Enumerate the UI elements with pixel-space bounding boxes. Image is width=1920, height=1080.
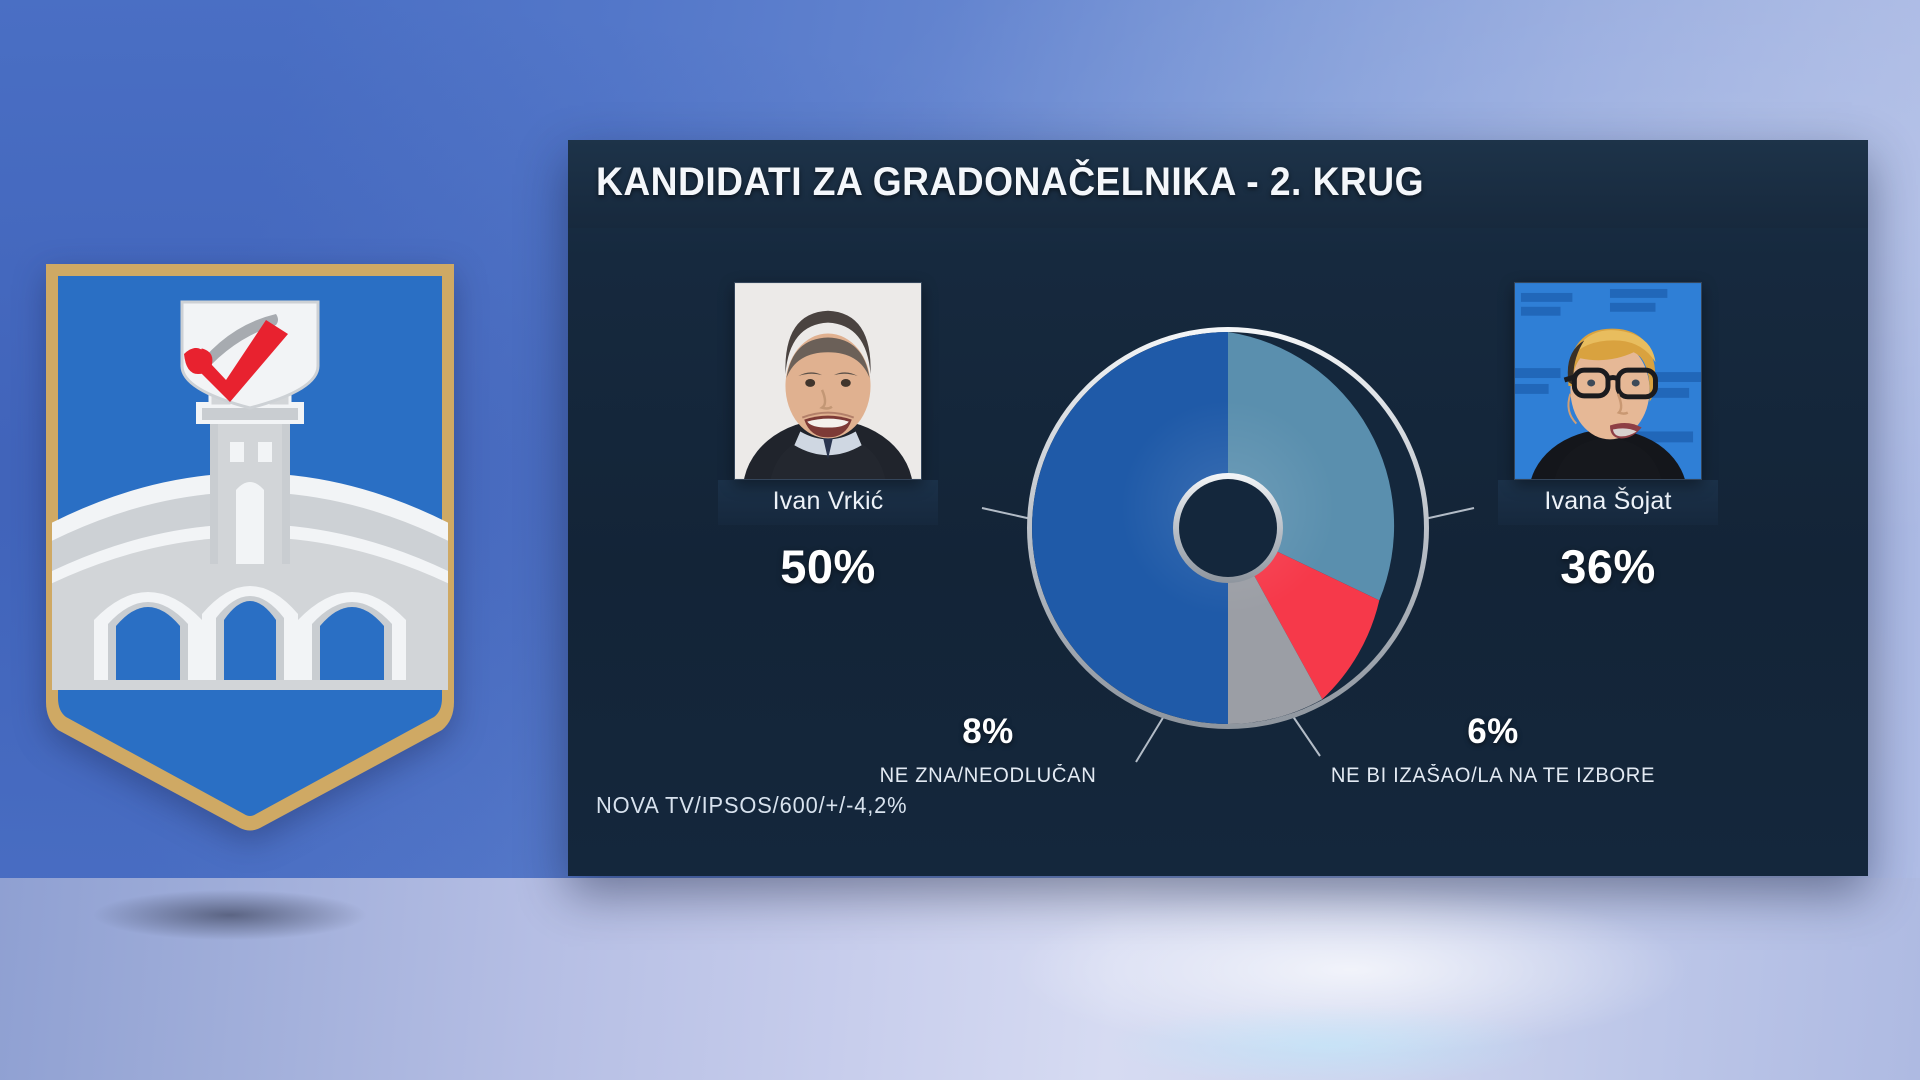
- candidate-photo-right: [1514, 282, 1702, 480]
- candidate-name-right: Ivana Šojat: [1498, 480, 1718, 525]
- callout-label-ne-zna: NE ZNA/NEODLUČAN: [786, 764, 1189, 788]
- poll-result-card: KANDIDATI ZA GRADONAČELNIKA - 2. KRUG: [568, 140, 1868, 876]
- callout-ne-zna: 8% NE ZNA/NEODLUČAN: [778, 712, 1198, 788]
- crest-inner-shield: [182, 302, 318, 408]
- callout-ne-bi-izasao: 6% NE BI IZAŠAO/LA NA TE IZBORE: [1258, 712, 1728, 788]
- candidate-photo-left: [734, 282, 922, 480]
- broadcast-stage: KANDIDATI ZA GRADONAČELNIKA - 2. KRUG: [0, 0, 1920, 1080]
- page-title: KANDIDATI ZA GRADONAČELNIKA - 2. KRUG: [596, 160, 1424, 205]
- donut-hub: [1179, 479, 1277, 577]
- candidate-percent-right: 36%: [1488, 539, 1728, 594]
- callout-percent-ne-zna: 8%: [778, 712, 1198, 752]
- callout-percent-ne-bi-izasao: 6%: [1258, 712, 1728, 752]
- poll-source-line: NOVA TV/IPSOS/600/+/-4,2%: [596, 792, 907, 819]
- poll-donut-chart: [968, 280, 1488, 780]
- candidate-name-left: Ivan Vrkić: [718, 480, 938, 525]
- osijek-coat-of-arms: [44, 262, 456, 832]
- crest-bridge-arches: [94, 586, 406, 682]
- candidate-block-left: Ivan Vrkić 50%: [708, 282, 948, 594]
- studio-floor-glow-secondary: [1060, 1000, 1600, 1080]
- candidate-percent-left: 50%: [708, 539, 948, 594]
- crest-floor-shadow: [40, 880, 420, 950]
- crest-tower: [196, 390, 304, 564]
- candidate-block-right: Ivana Šojat 36%: [1488, 282, 1728, 594]
- callout-label-ne-bi-izasao: NE BI IZAŠAO/LA NA TE IZBORE: [1267, 764, 1718, 788]
